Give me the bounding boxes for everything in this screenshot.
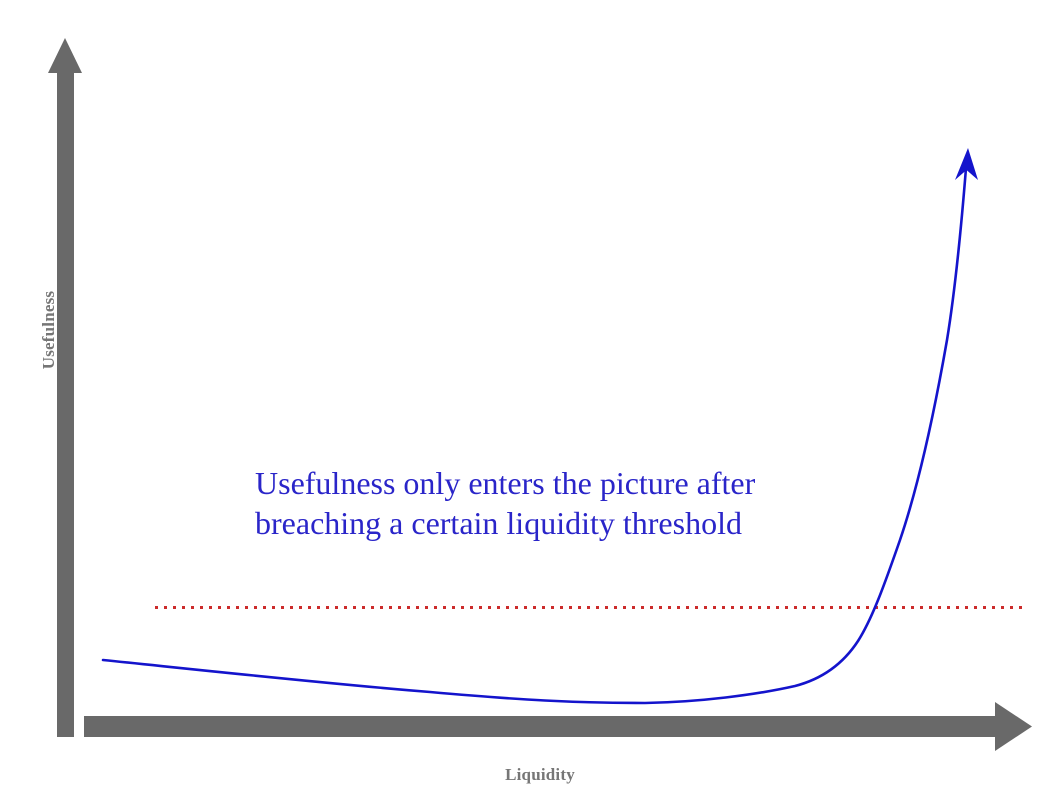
y-axis-label: Usefulness bbox=[39, 265, 59, 395]
chart-annotation-text: Usefulness only enters the picture after… bbox=[255, 463, 855, 543]
x-axis-label: Liquidity bbox=[460, 765, 620, 785]
usefulness-curve bbox=[103, 148, 978, 703]
x-axis-arrow bbox=[84, 702, 1032, 751]
chart-figure: Usefulness Liquidity Usefulness only ent… bbox=[0, 0, 1062, 808]
chart-canvas bbox=[0, 0, 1062, 808]
